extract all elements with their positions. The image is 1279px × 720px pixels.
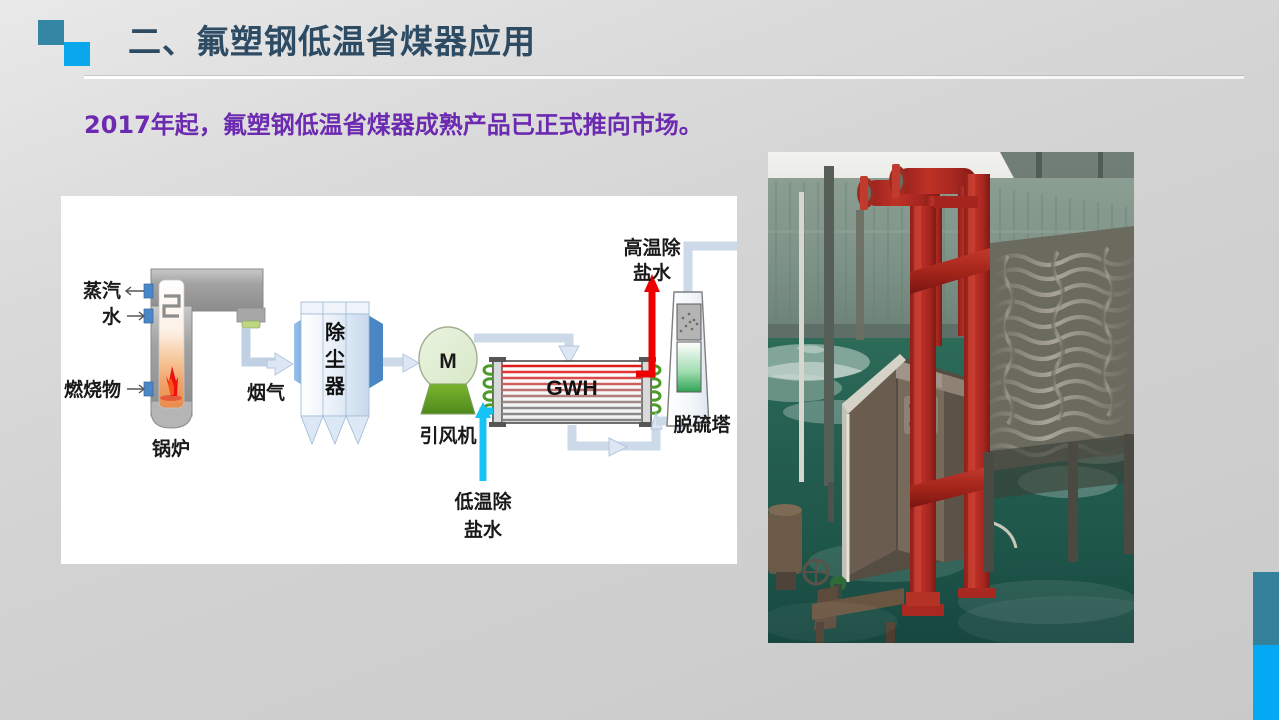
dust-collector-group: 除 尘 器 (294, 302, 383, 444)
label-flue-gas: 烟气 (247, 381, 285, 404)
label-fuel: 燃烧物 (64, 378, 121, 401)
label-desulfur-tower: 脱硫塔 (673, 413, 731, 436)
site-photo (768, 152, 1134, 643)
flue-gas-duct: 烟气 (246, 328, 293, 404)
label-gwh: GWH (546, 377, 597, 400)
label-motor: M (439, 350, 457, 373)
corner-accent-bar (1253, 572, 1279, 720)
label-boiler: 锅炉 (152, 437, 190, 460)
label-steam: 蒸汽 (83, 279, 121, 302)
square-dark-icon (38, 20, 64, 45)
accent-top-block (1253, 572, 1279, 645)
label-hot-water-2b: 盐水 (633, 261, 672, 284)
page-title: 二、氟塑钢低温省煤器应用 (128, 20, 536, 64)
label-dust-2: 尘 (325, 347, 345, 371)
label-cold-water-2: 盐水 (464, 518, 503, 541)
accent-bottom-block (1253, 645, 1279, 720)
label-cold-water-1: 低温除 (453, 490, 512, 513)
title-divider (84, 76, 1244, 79)
label-water: 水 (102, 306, 122, 328)
slide-root: 二、氟塑钢低温省煤器应用 2017年起，氟塑钢低温省煤器成熟产品已正式推向市场。 (0, 0, 1279, 720)
label-hot-water-1: 高温除 (623, 236, 681, 259)
process-diagram: 蒸汽 水 燃烧物 锅炉 烟气 (61, 196, 737, 564)
fan-group: M 引风机 (419, 327, 477, 447)
process-diagram-panel: 蒸汽 水 燃烧物 锅炉 烟气 (61, 196, 737, 564)
coil-bundle (982, 226, 1134, 500)
subtitle-text: 2017年起，氟塑钢低温省煤器成熟产品已正式推向市场。 (84, 108, 703, 142)
boiler-group: 蒸汽 水 燃烧物 锅炉 (64, 269, 265, 460)
desulfurization-tower-group: 脱硫塔 (667, 246, 737, 436)
decorative-squares (38, 20, 102, 66)
site-photo-image (768, 152, 1134, 643)
label-fan: 引风机 (419, 425, 476, 447)
square-light-icon (64, 42, 90, 66)
duct-to-fan (383, 354, 419, 372)
label-dust-3: 器 (324, 374, 346, 398)
label-dust-1: 除 (325, 320, 346, 344)
heat-exchanger-group: GWH (484, 357, 660, 427)
